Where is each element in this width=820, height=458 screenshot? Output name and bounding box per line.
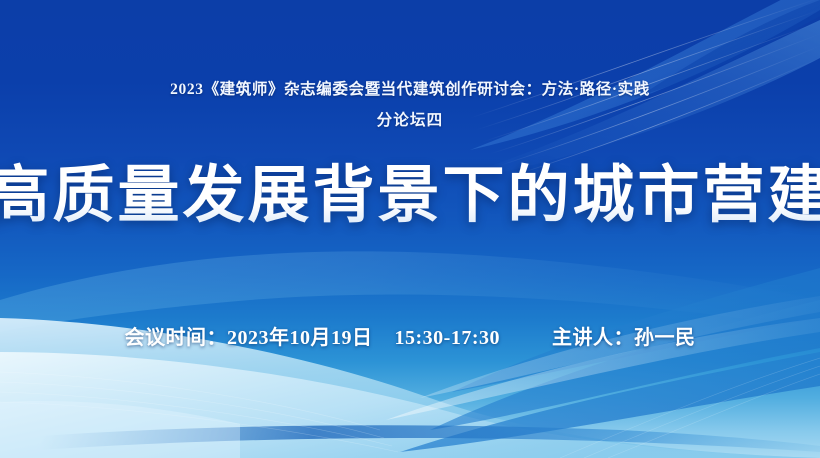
event-series-line: 2023《建筑师》杂志编委会暨当代建筑创作研讨会：方法·路径·实践 [170,78,650,102]
event-session-line: 分论坛四 [170,109,650,133]
meeting-time-range: 15:30-17:30 [395,327,500,350]
meeting-date: 会议时间：2023年10月19日 [125,321,373,350]
event-kicker-block: 2023《建筑师》杂志编委会暨当代建筑创作研讨会：方法·路径·实践 分论坛四 [170,78,650,133]
speaker-name: 主讲人：孙一民 [552,321,696,350]
slide-content: 2023《建筑师》杂志编委会暨当代建筑创作研讨会：方法·路径·实践 分论坛四 高… [0,0,820,458]
page-title: 高质量发展背景下的城市营建 [0,161,820,232]
event-meta-row: 会议时间：2023年10月19日 15:30-17:30 主讲人：孙一民 [0,321,820,350]
conference-title-slide: 2023《建筑师》杂志编委会暨当代建筑创作研讨会：方法·路径·实践 分论坛四 高… [0,0,820,458]
